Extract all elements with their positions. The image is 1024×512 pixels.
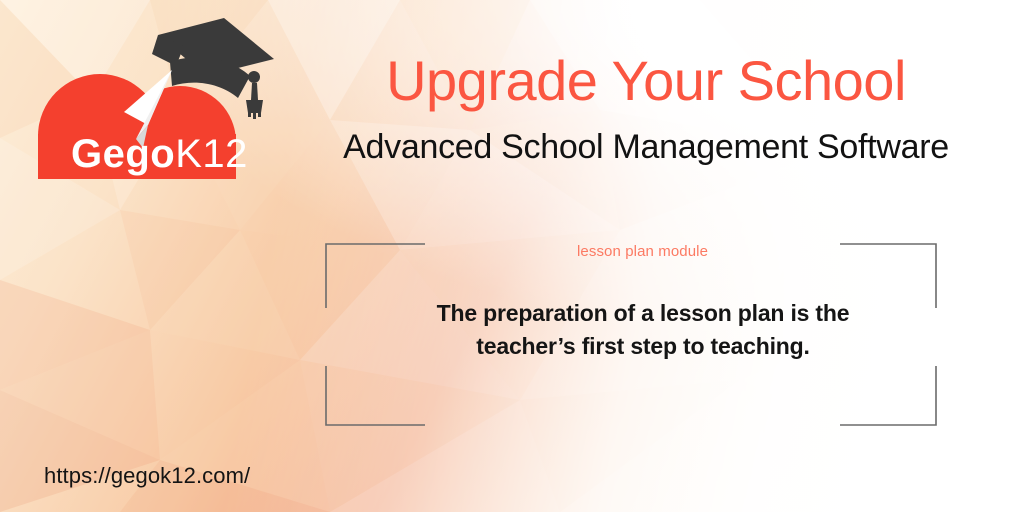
quote-line-1: The preparation of a lesson plan is the — [398, 297, 888, 330]
bracket-bottom-left — [326, 366, 425, 425]
module-label: lesson plan module — [440, 243, 845, 260]
site-url[interactable]: https://gegok12.com/ — [44, 463, 250, 489]
bracket-bottom-right — [840, 366, 936, 425]
promo-banner: GegoK12 Upgrade Your School Advanced Sch… — [0, 0, 1024, 512]
quote-line-2: teacher’s first step to teaching. — [398, 330, 888, 363]
callout-quote: The preparation of a lesson plan is the … — [398, 297, 888, 364]
